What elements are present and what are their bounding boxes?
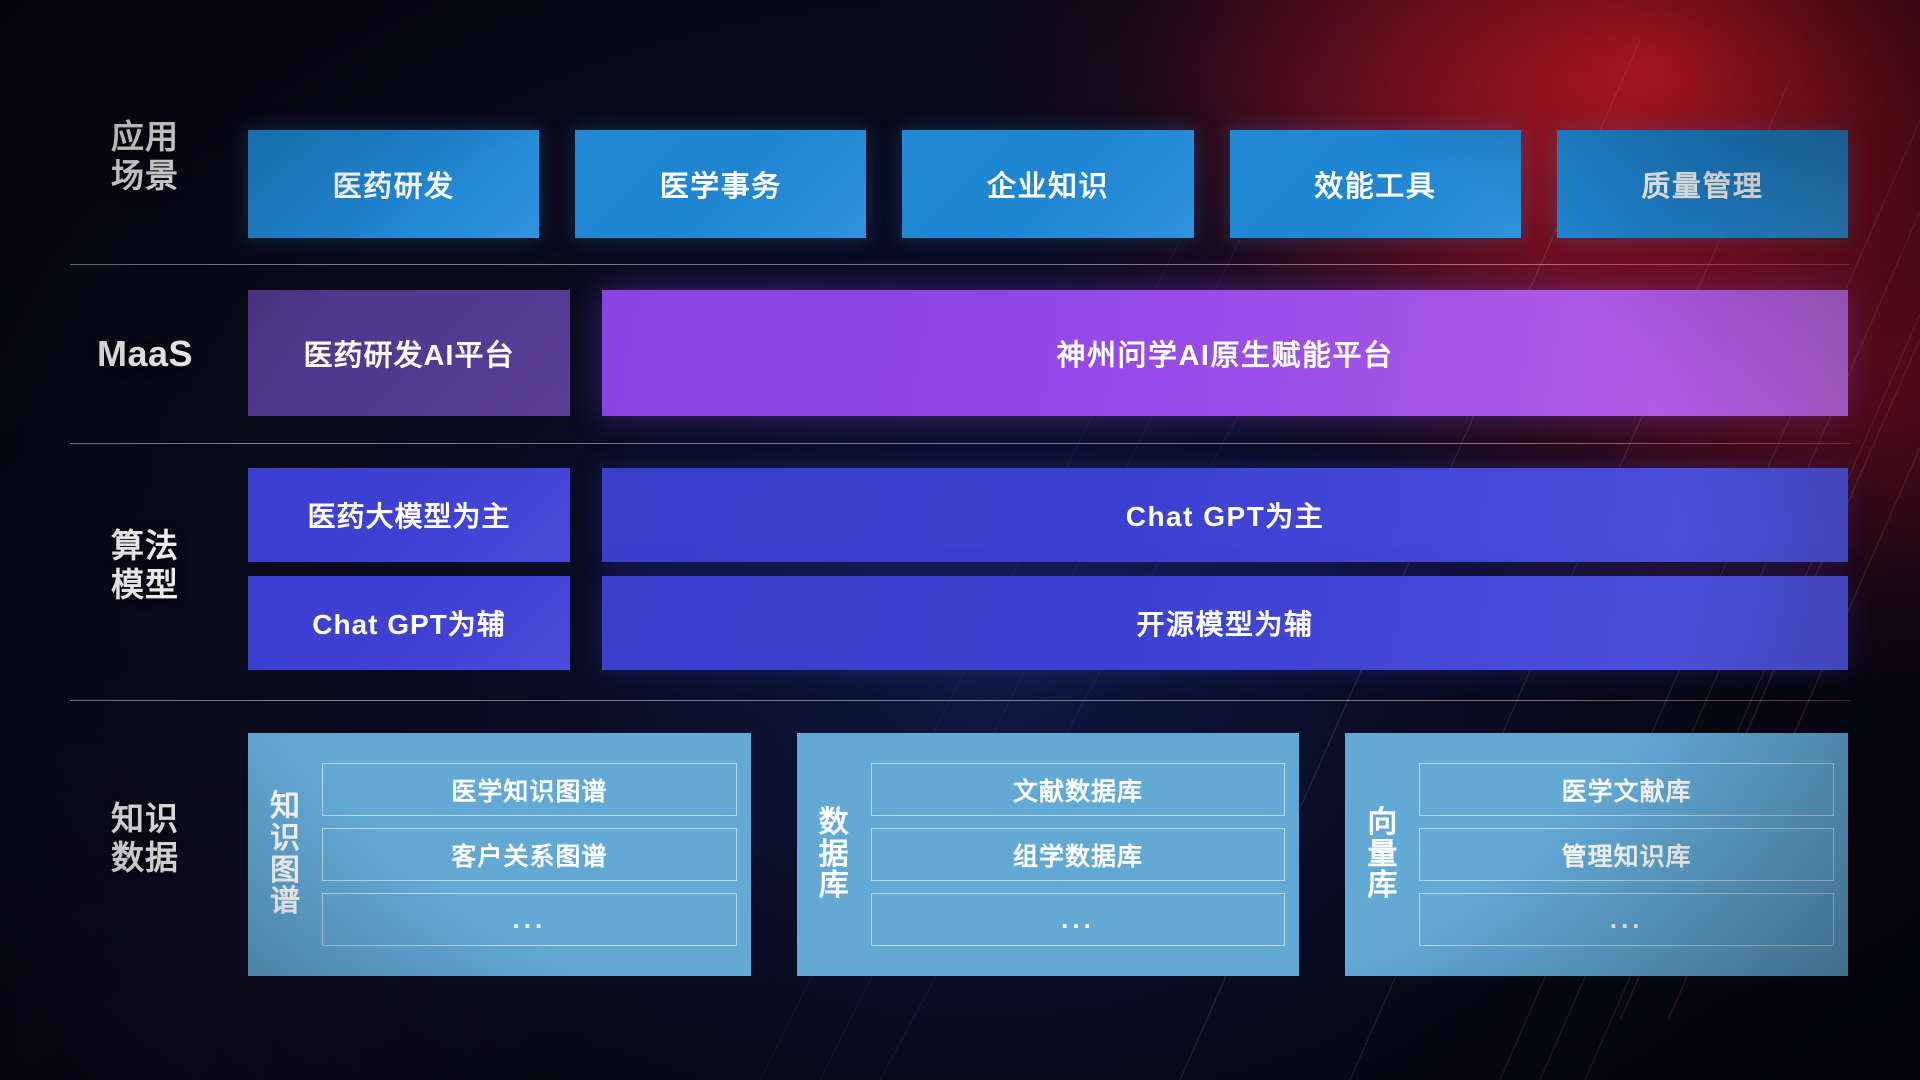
algorithm-line-primary: 医药大模型为主 Chat GPT为主 <box>248 468 1848 562</box>
app-card-quality-management[interactable]: 质量管理 <box>1557 130 1848 238</box>
app-card-enterprise-knowledge[interactable]: 企业知识 <box>902 130 1193 238</box>
knowledge-group-label-knowledge-graph: 知识图谱 <box>258 791 312 918</box>
knowledge-item-more-vector-store[interactable]: ... <box>1419 893 1834 946</box>
row-label-apps-line2: 场景 <box>70 157 220 196</box>
algo-card-opensource-secondary[interactable]: 开源模型为辅 <box>602 576 1848 670</box>
maas-row: 医药研发AI平台 神州问学AI原生赋能平台 <box>248 290 1848 416</box>
maas-card-shenzhou-wenxue-platform[interactable]: 神州问学AI原生赋能平台 <box>602 290 1848 416</box>
row-label-apps-line1: 应用 <box>70 118 220 157</box>
algo-card-chatgpt-secondary[interactable]: Chat GPT为辅 <box>248 576 570 670</box>
app-card-medical-affairs[interactable]: 医学事务 <box>575 130 866 238</box>
app-card-medicine-rd[interactable]: 医药研发 <box>248 130 539 238</box>
row-label-know-line2: 数据 <box>70 839 220 878</box>
row-label-know-line1: 知识 <box>70 800 220 839</box>
knowledge-item-more-knowledge-graph[interactable]: ... <box>322 893 737 946</box>
knowledge-items-database: 文献数据库 组学数据库 ... <box>871 763 1286 946</box>
knowledge-items-knowledge-graph: 医学知识图谱 客户关系图谱 ... <box>322 763 737 946</box>
divider-algorithm-knowledge <box>70 700 1850 701</box>
knowledge-group-knowledge-graph: 知识图谱 医学知识图谱 客户关系图谱 ... <box>248 733 751 976</box>
knowledge-group-label-database: 数据库 <box>807 807 861 902</box>
knowledge-item-customer-relation-graph[interactable]: 客户关系图谱 <box>322 828 737 881</box>
knowledge-item-management-knowledge-store[interactable]: 管理知识库 <box>1419 828 1834 881</box>
app-card-efficiency-tools[interactable]: 效能工具 <box>1230 130 1521 238</box>
knowledge-item-literature-database[interactable]: 文献数据库 <box>871 763 1286 816</box>
divider-maas-algorithm <box>70 443 1850 444</box>
algorithm-line-secondary: Chat GPT为辅 开源模型为辅 <box>248 576 1848 670</box>
algo-card-medicine-llm-primary[interactable]: 医药大模型为主 <box>248 468 570 562</box>
knowledge-data-row: 知识图谱 医学知识图谱 客户关系图谱 ... 数据库 文献数据库 组学数据库 .… <box>248 733 1848 976</box>
architecture-diagram-canvas: 应用 场景 医药研发 医学事务 企业知识 效能工具 质量管理 MaaS 医药研发… <box>0 0 1920 1080</box>
row-label-maas: MaaS <box>70 333 220 375</box>
application-scenarios-row: 医药研发 医学事务 企业知识 效能工具 质量管理 <box>248 130 1848 238</box>
algorithm-models-row: 医药大模型为主 Chat GPT为主 Chat GPT为辅 开源模型为辅 <box>248 468 1848 670</box>
divider-apps-maas <box>70 264 1850 265</box>
row-label-algo-line1: 算法 <box>70 527 220 566</box>
row-label-algo-line2: 模型 <box>70 566 220 605</box>
knowledge-item-medical-literature-store[interactable]: 医学文献库 <box>1419 763 1834 816</box>
knowledge-group-label-vector-store: 向量库 <box>1355 807 1409 902</box>
maas-card-medicine-ai-platform[interactable]: 医药研发AI平台 <box>248 290 570 416</box>
algo-card-chatgpt-primary[interactable]: Chat GPT为主 <box>602 468 1848 562</box>
knowledge-group-vector-store: 向量库 医学文献库 管理知识库 ... <box>1345 733 1848 976</box>
knowledge-item-medical-knowledge-graph[interactable]: 医学知识图谱 <box>322 763 737 816</box>
knowledge-items-vector-store: 医学文献库 管理知识库 ... <box>1419 763 1834 946</box>
row-label-maas-text: MaaS <box>70 333 220 375</box>
row-label-knowledge-data: 知识 数据 <box>70 800 220 878</box>
knowledge-item-omics-database[interactable]: 组学数据库 <box>871 828 1286 881</box>
knowledge-item-more-database[interactable]: ... <box>871 893 1286 946</box>
row-label-algorithm-models: 算法 模型 <box>70 527 220 605</box>
row-label-application-scenarios: 应用 场景 <box>70 118 220 196</box>
knowledge-group-database: 数据库 文献数据库 组学数据库 ... <box>797 733 1300 976</box>
